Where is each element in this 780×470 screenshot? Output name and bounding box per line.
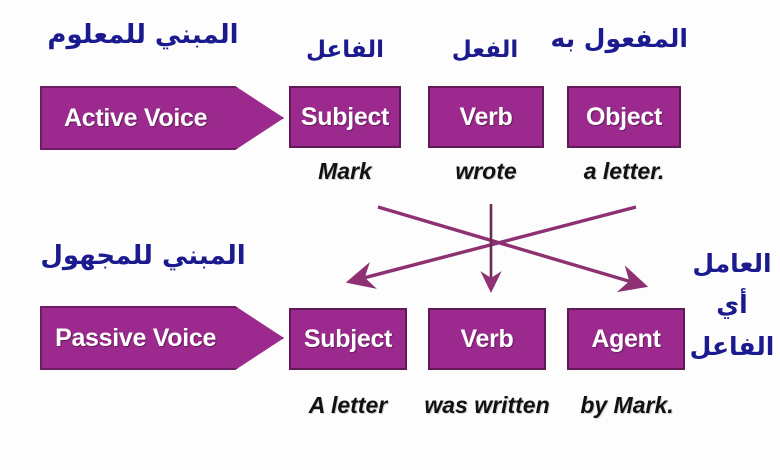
box-passive-agent: Agent — [567, 308, 685, 370]
box-passive-subject-label: Subject — [304, 325, 392, 354]
example-active-subject: Mark — [289, 158, 401, 185]
banner-active-voice: Active Voice — [40, 86, 284, 150]
banner-passive-voice: Passive Voice — [40, 306, 284, 370]
passive-voice-diagram: المبني للمعلوم المبني للمجهول الفاعل الف… — [0, 0, 780, 470]
label-agent-arabic-group: العامل أي الفاعل — [686, 243, 778, 367]
example-passive-subject: A letter — [286, 392, 410, 419]
box-passive-verb: Verb — [428, 308, 546, 370]
box-active-object-label: Object — [586, 103, 662, 132]
label-agent-arabic-line-2: أي — [686, 284, 778, 325]
label-subject-arabic: الفاعل — [286, 38, 404, 62]
box-active-verb: Verb — [428, 86, 544, 148]
example-passive-agent: by Mark. — [562, 392, 692, 419]
box-active-subject-label: Subject — [301, 103, 389, 132]
label-object-arabic: المفعول به — [556, 26, 688, 52]
banner-active-voice-label: Active Voice — [42, 104, 229, 133]
label-agent-arabic-line-3: الفاعل — [686, 326, 778, 367]
label-passive-voice-arabic: المبني للمجهول — [18, 243, 268, 270]
arrow-subject-to-agent — [378, 207, 642, 285]
example-active-object: a letter. — [563, 158, 685, 185]
box-passive-agent-label: Agent — [591, 325, 660, 354]
box-passive-verb-label: Verb — [461, 325, 514, 354]
box-active-verb-label: Verb — [460, 103, 513, 132]
box-active-subject: Subject — [289, 86, 401, 148]
label-agent-arabic-line-1: العامل — [686, 243, 778, 284]
label-active-voice-arabic: المبني للمعلوم — [18, 22, 268, 49]
banner-passive-voice-label: Passive Voice — [42, 324, 229, 353]
example-passive-verb: was written — [414, 392, 560, 419]
box-active-object: Object — [567, 86, 681, 148]
box-passive-subject: Subject — [289, 308, 407, 370]
arrow-object-to-subject — [352, 207, 636, 281]
example-active-verb: wrote — [424, 158, 548, 185]
label-verb-arabic: الفعل — [424, 38, 546, 62]
